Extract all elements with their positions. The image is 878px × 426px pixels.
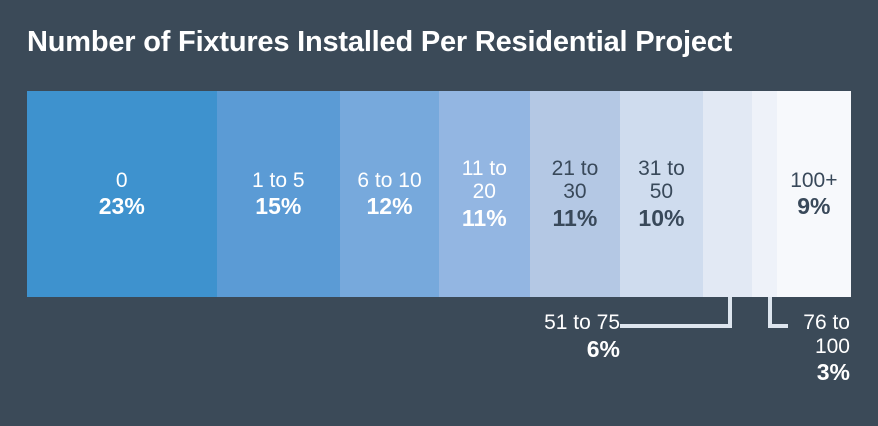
- segment-value-label: 12%: [367, 193, 413, 219]
- callout-category-label: 51 to 75: [470, 311, 620, 335]
- segment-category-label: 100+: [787, 169, 840, 193]
- bar-segment-11-to-20[interactable]: 11 to 20 11%: [439, 91, 530, 297]
- callout-category-label: 76 to 100: [700, 311, 850, 358]
- segment-value-label: 10%: [638, 205, 684, 231]
- chart-title: Number of Fixtures Installed Per Residen…: [27, 26, 851, 59]
- bar-segment-1-to-5[interactable]: 1 to 5 15%: [217, 91, 341, 297]
- segment-category-label: 31 to 50: [635, 157, 688, 204]
- bar-segment-21-to-30[interactable]: 21 to 30 11%: [530, 91, 621, 297]
- callout-51-to-75[interactable]: 51 to 75 6%: [470, 311, 620, 363]
- bar-segment-31-to-50[interactable]: 31 to 50 10%: [620, 91, 702, 297]
- callout-value-label: 3%: [700, 359, 850, 386]
- callout-value-label: 6%: [470, 336, 620, 363]
- bar-segment-100-plus[interactable]: 100+ 9%: [777, 91, 851, 297]
- callout-layer: 51 to 75 6% 76 to 100 3%: [0, 297, 878, 426]
- segment-category-label: 21 to 30: [549, 157, 602, 204]
- chart-canvas: Number of Fixtures Installed Per Residen…: [0, 0, 878, 426]
- segment-category-label: 0: [113, 169, 131, 193]
- segment-category-label: 1 to 5: [249, 169, 308, 193]
- segment-category-label: 6 to 10: [354, 169, 424, 193]
- segment-value-label: 11%: [553, 205, 598, 231]
- bar-segment-51-to-75[interactable]: 51 to 75 6%: [703, 91, 752, 297]
- segment-value-label: 11%: [462, 205, 507, 231]
- segment-value-label: 9%: [797, 193, 830, 219]
- bar-segment-6-to-10[interactable]: 6 to 10 12%: [340, 91, 439, 297]
- bar-segment-0[interactable]: 0 23%: [27, 91, 217, 297]
- bar-segment-76-to-100[interactable]: 76 to 100 3%: [752, 91, 777, 297]
- segment-value-label: 23%: [99, 193, 145, 219]
- callout-76-to-100[interactable]: 76 to 100 3%: [700, 311, 850, 386]
- segment-category-label: 11 to 20: [459, 157, 510, 204]
- stacked-bar: 0 23% 1 to 5 15% 6 to 10 12% 11 to 20 11…: [27, 91, 851, 297]
- segment-value-label: 15%: [255, 193, 301, 219]
